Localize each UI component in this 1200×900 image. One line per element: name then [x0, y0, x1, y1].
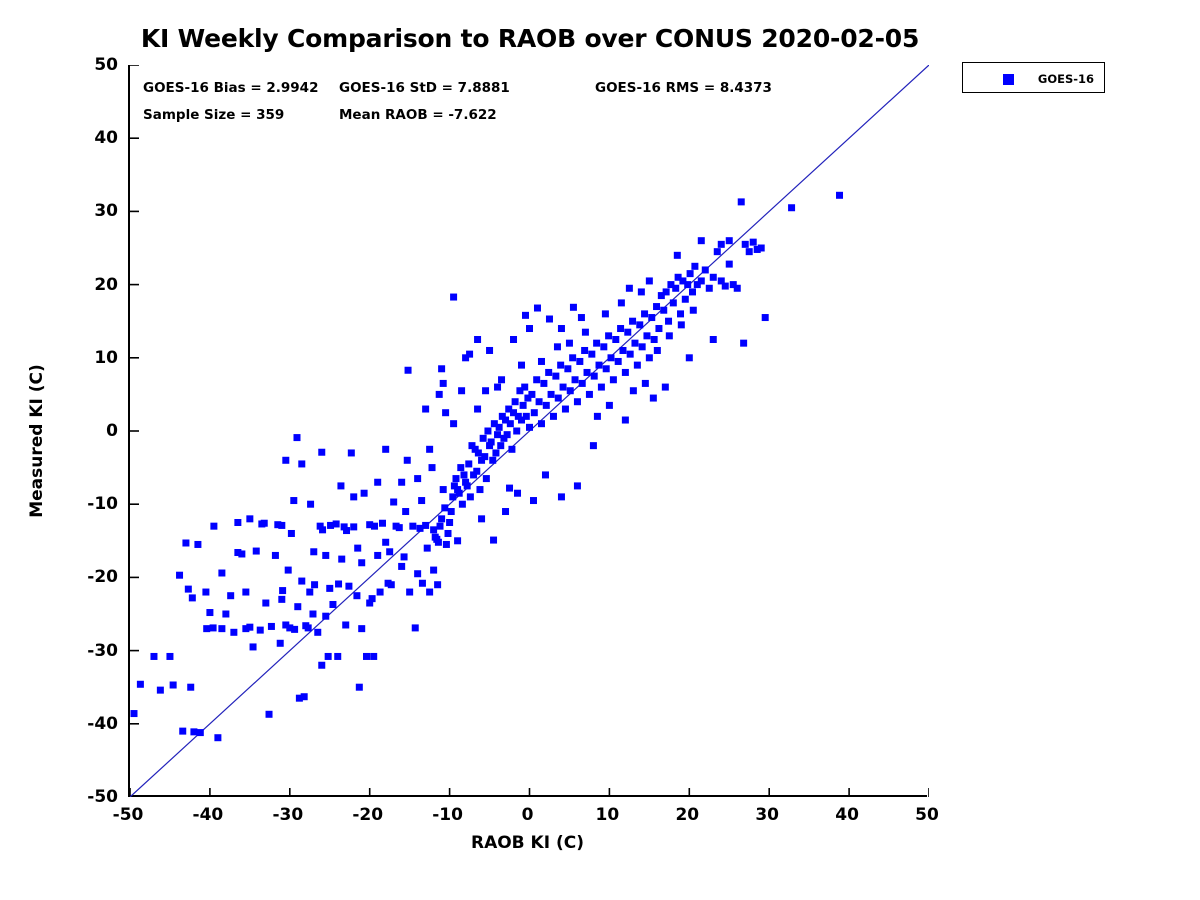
scatter-point — [214, 734, 221, 741]
x-tick-label: 30 — [755, 805, 779, 825]
scatter-point — [572, 376, 579, 383]
scatter-point — [481, 453, 488, 460]
scatter-point — [350, 523, 357, 530]
scatter-point — [554, 343, 561, 350]
scatter-point — [528, 391, 535, 398]
scatter-point — [464, 482, 471, 489]
scatter-point — [536, 398, 543, 405]
scatter-point — [441, 504, 448, 511]
scatter-point — [684, 281, 691, 288]
scatter-point — [279, 587, 286, 594]
scatter-point — [242, 625, 249, 632]
x-tick-label: -40 — [193, 805, 224, 825]
scatter-point — [457, 464, 464, 471]
scatter-point — [446, 519, 453, 526]
scatter-point — [518, 362, 525, 369]
scatter-point — [566, 340, 573, 347]
scatter-point — [513, 428, 520, 435]
scatter-point — [492, 449, 499, 456]
data-points-group — [130, 192, 843, 741]
scatter-point — [422, 522, 429, 529]
x-tick-label: -20 — [352, 805, 383, 825]
scatter-point — [484, 428, 491, 435]
scatter-point — [334, 653, 341, 660]
scatter-point — [268, 623, 275, 630]
scatter-point — [557, 362, 564, 369]
scatter-point — [450, 294, 457, 301]
scatter-point — [438, 365, 445, 372]
y-tick-label: -50 — [87, 787, 118, 807]
scatter-point — [456, 490, 463, 497]
scatter-point — [602, 310, 609, 317]
scatter-point — [596, 362, 603, 369]
scatter-point — [520, 402, 527, 409]
scatter-point — [311, 581, 318, 588]
y-axis-label: Measured KI (C) — [27, 341, 47, 541]
scatter-point — [418, 497, 425, 504]
chart-figure: KI Weekly Comparison to RAOB over CONUS … — [0, 0, 1200, 900]
scatter-point — [540, 380, 547, 387]
scatter-point — [646, 277, 653, 284]
scatter-point — [222, 611, 229, 618]
scatter-point — [630, 387, 637, 394]
scatter-point — [266, 711, 273, 718]
scatter-point — [424, 545, 431, 552]
y-tick-label: 10 — [94, 348, 118, 368]
scatter-point — [137, 681, 144, 688]
scatter-point — [496, 424, 503, 431]
scatter-point — [398, 563, 405, 570]
scatter-point — [189, 594, 196, 601]
scatter-point — [610, 376, 617, 383]
scatter-point — [663, 288, 670, 295]
scatter-point — [639, 343, 646, 350]
scatter-point — [130, 710, 137, 717]
scatter-point — [277, 640, 284, 647]
scatter-point — [526, 424, 533, 431]
scatter-point — [530, 497, 537, 504]
scatter-point — [230, 629, 237, 636]
scatter-point — [569, 354, 576, 361]
scatter-point — [512, 398, 519, 405]
scatter-point — [388, 581, 395, 588]
scatter-point — [619, 347, 626, 354]
scatter-point — [345, 583, 352, 590]
chart-legend: GOES-16 — [962, 62, 1105, 93]
scatter-point — [574, 482, 581, 489]
scatter-point — [600, 343, 607, 350]
scatter-point — [674, 252, 681, 259]
scatter-point — [309, 611, 316, 618]
scatter-point — [498, 376, 505, 383]
scatter-point — [406, 589, 413, 596]
scatter-point — [545, 369, 552, 376]
scatter-point — [560, 384, 567, 391]
scatter-point — [590, 442, 597, 449]
scatter-point — [465, 460, 472, 467]
scatter-point — [762, 314, 769, 321]
scatter-point — [538, 420, 545, 427]
scatter-point — [246, 515, 253, 522]
scatter-point — [574, 398, 581, 405]
scatter-point — [710, 274, 717, 281]
scatter-point — [356, 684, 363, 691]
x-axis-label: RAOB KI (C) — [128, 833, 927, 853]
scatter-point — [435, 539, 442, 546]
scatter-point — [615, 358, 622, 365]
scatter-point — [150, 653, 157, 660]
scatter-point — [442, 409, 449, 416]
plot-area — [128, 65, 927, 797]
scatter-point — [206, 609, 213, 616]
scatter-point — [686, 354, 693, 361]
scatter-point — [314, 629, 321, 636]
scatter-point — [533, 376, 540, 383]
scatter-point — [593, 340, 600, 347]
legend-label-goes16: GOES-16 — [1035, 72, 1097, 86]
y-tick-label: -40 — [87, 714, 118, 734]
scatter-point — [650, 395, 657, 402]
scatter-point — [369, 595, 376, 602]
x-tick-label: 40 — [835, 805, 859, 825]
annotation-rms: GOES-16 RMS = 8.4373 — [595, 80, 772, 96]
scatter-point — [278, 596, 285, 603]
scatter-point — [523, 413, 530, 420]
scatter-point — [460, 471, 467, 478]
scatter-point — [475, 449, 482, 456]
scatter-point — [325, 653, 332, 660]
scatter-point — [478, 515, 485, 522]
scatter-point — [726, 261, 733, 268]
scatter-point — [514, 490, 521, 497]
scatter-point — [665, 318, 672, 325]
scatter-point — [490, 537, 497, 544]
scatter-point — [398, 479, 405, 486]
scatter-point — [430, 526, 437, 533]
scatter-point — [319, 526, 326, 533]
scatter-point — [586, 391, 593, 398]
scatter-point — [738, 198, 745, 205]
scatter-point — [358, 625, 365, 632]
y-tick-label: 40 — [94, 128, 118, 148]
scatter-point — [257, 627, 264, 634]
scatter-point — [689, 288, 696, 295]
scatter-point — [437, 523, 444, 530]
scatter-point — [291, 626, 298, 633]
scatter-point — [333, 520, 340, 527]
scatter-point — [422, 406, 429, 413]
scatter-point — [742, 241, 749, 248]
scatter-point — [606, 402, 613, 409]
scatter-point — [562, 406, 569, 413]
scatter-point — [646, 354, 653, 361]
scatter-point — [305, 624, 312, 631]
scatter-point — [462, 354, 469, 361]
scatter-point — [382, 539, 389, 546]
scatter-point — [402, 508, 409, 515]
scatter-point — [194, 541, 201, 548]
scatter-point — [288, 530, 295, 537]
scatter-point — [702, 266, 709, 273]
scatter-point — [401, 553, 408, 560]
scatter-point — [624, 329, 631, 336]
scatter-point — [591, 373, 598, 380]
scatter-point — [450, 420, 457, 427]
scatter-point — [386, 548, 393, 555]
scatter-point — [436, 391, 443, 398]
scatter-point — [338, 556, 345, 563]
scatter-point — [473, 468, 480, 475]
scatter-point — [414, 570, 421, 577]
scatter-point — [682, 296, 689, 303]
scatter-point — [278, 522, 285, 529]
scatter-point — [434, 581, 441, 588]
scatter-point — [617, 325, 624, 332]
scatter-point — [290, 497, 297, 504]
scatter-point — [203, 625, 210, 632]
scatter-point — [445, 530, 452, 537]
scatter-point — [710, 336, 717, 343]
scatter-point — [157, 687, 164, 694]
scatter-point — [534, 305, 541, 312]
scatter-point — [690, 307, 697, 314]
scatter-point — [653, 303, 660, 310]
scatter-point — [234, 519, 241, 526]
scatter-point — [322, 613, 329, 620]
x-tick-label: 50 — [915, 805, 939, 825]
scatter-point — [494, 431, 501, 438]
scatter-point — [210, 624, 217, 631]
scatter-point — [218, 625, 225, 632]
scatter-point — [706, 285, 713, 292]
scatter-point — [306, 589, 313, 596]
scatter-point — [412, 624, 419, 631]
scatter-point — [354, 545, 361, 552]
scatter-point — [631, 340, 638, 347]
y-tick-label: 0 — [106, 421, 118, 441]
scatter-point — [722, 283, 729, 290]
scatter-point — [634, 362, 641, 369]
chart-title: KI Weekly Comparison to RAOB over CONUS … — [0, 24, 1060, 53]
scatter-point — [377, 589, 384, 596]
scatter-point — [293, 434, 300, 441]
scatter-point — [497, 442, 504, 449]
scatter-point — [430, 567, 437, 574]
scatter-point — [642, 380, 649, 387]
scatter-point — [726, 237, 733, 244]
scatter-point — [482, 387, 489, 394]
scatter-point — [440, 486, 447, 493]
scatter-point — [506, 485, 513, 492]
scatter-point — [363, 653, 370, 660]
scatter-point — [429, 464, 436, 471]
scatter-point — [443, 541, 450, 548]
scatter-point — [698, 237, 705, 244]
scatter-point — [318, 662, 325, 669]
scatter-point — [382, 446, 389, 453]
y-axis-tick-labels: -50-40-30-20-1001020304050 — [60, 65, 118, 797]
scatter-point — [662, 384, 669, 391]
scatter-point — [298, 460, 305, 467]
scatter-point — [170, 682, 177, 689]
scatter-point — [459, 501, 466, 508]
one-to-one-reference-line — [130, 65, 929, 797]
scatter-point — [555, 395, 562, 402]
scatter-point — [607, 354, 614, 361]
scatter-point — [426, 446, 433, 453]
scatter-point — [579, 380, 586, 387]
scatter-point — [348, 449, 355, 456]
scatter-point — [366, 521, 373, 528]
scatter-point — [353, 592, 360, 599]
scatter-point — [654, 347, 661, 354]
scatter-point — [655, 325, 662, 332]
scatter-point — [440, 380, 447, 387]
scatter-point — [788, 204, 795, 211]
scatter-point — [185, 586, 192, 593]
scatter-point — [714, 248, 721, 255]
scatter-point — [670, 299, 677, 306]
scatter-point — [227, 592, 234, 599]
scatter-point — [526, 325, 533, 332]
scatter-point — [419, 580, 426, 587]
scatter-point — [307, 501, 314, 508]
scatter-point — [502, 508, 509, 515]
scatter-point — [758, 245, 765, 252]
scatter-point — [272, 552, 279, 559]
scatter-point — [508, 446, 515, 453]
scatter-point — [298, 578, 305, 585]
scatter-plot-canvas — [130, 65, 929, 797]
scatter-point — [379, 520, 386, 527]
scatter-point — [581, 347, 588, 354]
scatter-point — [390, 499, 397, 506]
x-axis-tick-labels: -50-40-30-20-1001020304050 — [128, 805, 927, 831]
scatter-point — [282, 457, 289, 464]
y-tick-label: -30 — [87, 641, 118, 661]
scatter-point — [489, 457, 496, 464]
scatter-point — [567, 387, 574, 394]
scatter-point — [552, 373, 559, 380]
scatter-point — [504, 431, 511, 438]
y-tick-label: 20 — [94, 275, 118, 295]
scatter-point — [638, 288, 645, 295]
x-tick-label: -50 — [113, 805, 144, 825]
scatter-point — [374, 552, 381, 559]
scatter-point — [179, 728, 186, 735]
scatter-point — [750, 239, 757, 246]
scatter-point — [486, 347, 493, 354]
scatter-point — [335, 580, 342, 587]
scatter-point — [467, 493, 474, 500]
scatter-point — [691, 263, 698, 270]
scatter-point — [258, 520, 265, 527]
scatter-point — [546, 316, 553, 323]
scatter-point — [253, 548, 260, 555]
scatter-point — [651, 336, 658, 343]
scatter-point — [426, 589, 433, 596]
scatter-point — [660, 307, 667, 314]
y-tick-label: 30 — [94, 201, 118, 221]
scatter-point — [285, 567, 292, 574]
scatter-point — [404, 457, 411, 464]
scatter-point — [361, 490, 368, 497]
scatter-point — [210, 523, 217, 530]
scatter-point — [718, 241, 725, 248]
scatter-point — [449, 493, 456, 500]
scatter-point — [594, 413, 601, 420]
annotation-mean_raob: Mean RAOB = -7.622 — [339, 107, 497, 123]
scatter-point — [507, 420, 514, 427]
scatter-point — [396, 524, 403, 531]
scatter-point — [746, 248, 753, 255]
annotation-sample_size: Sample Size = 359 — [143, 107, 284, 123]
scatter-point — [687, 270, 694, 277]
scatter-point — [337, 482, 344, 489]
scatter-point — [740, 340, 747, 347]
scatter-point — [176, 572, 183, 579]
scatter-point — [414, 475, 421, 482]
scatter-point — [448, 508, 455, 515]
scatter-point — [474, 406, 481, 413]
scatter-point — [197, 729, 204, 736]
scatter-point — [734, 285, 741, 292]
scatter-point — [576, 358, 583, 365]
scatter-point — [343, 527, 350, 534]
scatter-point — [678, 321, 685, 328]
scatter-point — [342, 621, 349, 628]
scatter-point — [242, 589, 249, 596]
x-tick-label: 0 — [522, 805, 534, 825]
y-tick-label: 50 — [94, 55, 118, 75]
scatter-point — [218, 570, 225, 577]
x-tick-label: -30 — [272, 805, 303, 825]
scatter-point — [538, 358, 545, 365]
scatter-point — [476, 486, 483, 493]
scatter-point — [326, 585, 333, 592]
scatter-point — [626, 285, 633, 292]
scatter-point — [438, 515, 445, 522]
scatter-point — [488, 438, 495, 445]
scatter-point — [329, 601, 336, 608]
scatter-point — [698, 277, 705, 284]
y-tick-label: -20 — [87, 567, 118, 587]
x-tick-label: 10 — [596, 805, 620, 825]
scatter-point — [202, 589, 209, 596]
scatter-point — [548, 391, 555, 398]
scatter-point — [543, 402, 550, 409]
scatter-point — [627, 351, 634, 358]
scatter-point — [672, 285, 679, 292]
scatter-point — [629, 318, 636, 325]
scatter-point — [622, 369, 629, 376]
scatter-point — [452, 475, 459, 482]
scatter-point — [166, 653, 173, 660]
scatter-point — [641, 310, 648, 317]
scatter-point — [550, 413, 557, 420]
scatter-point — [521, 384, 528, 391]
legend-marker-swatch — [1003, 74, 1014, 85]
scatter-point — [666, 332, 673, 339]
scatter-point — [250, 643, 257, 650]
scatter-point — [578, 314, 585, 321]
scatter-point — [238, 550, 245, 557]
scatter-point — [262, 600, 269, 607]
scatter-point — [836, 192, 843, 199]
scatter-point — [588, 351, 595, 358]
scatter-point — [187, 684, 194, 691]
scatter-point — [190, 728, 197, 735]
